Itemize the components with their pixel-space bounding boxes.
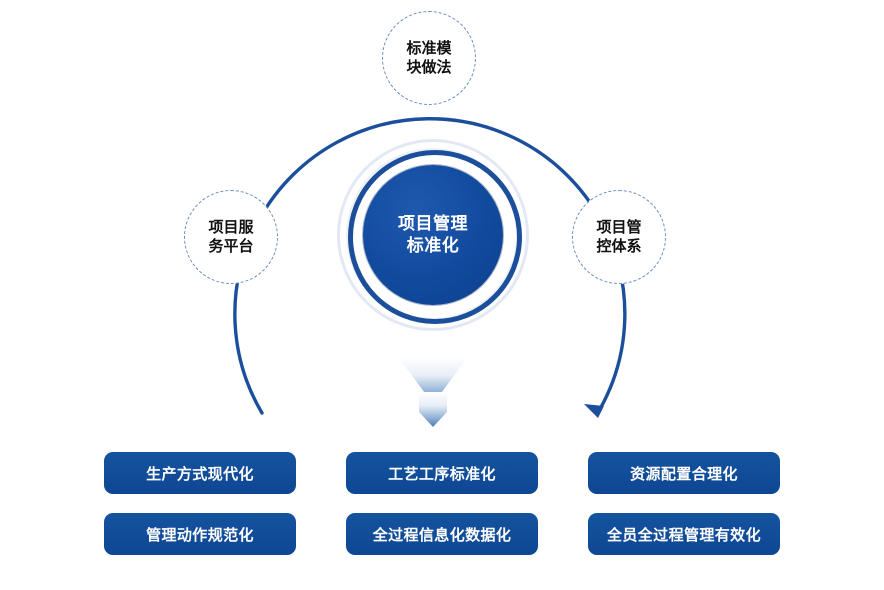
diagram-canvas: 项目管理 标准化 标准模 块做法 项目服 务平台 项目管 控体系 生产方式现代化…	[0, 0, 884, 590]
outcome-box[interactable]: 全员全过程管理有效化	[588, 513, 780, 555]
outcome-box[interactable]: 管理动作规范化	[104, 513, 296, 555]
cycle-node-right[interactable]: 项目管 控体系	[572, 190, 666, 284]
outcome-grid: 生产方式现代化 工艺工序标准化 资源配置合理化 管理动作规范化 全过程信息化数据…	[0, 452, 884, 574]
hub-disc: 项目管理 标准化	[363, 165, 503, 305]
cycle-node-left-label: 项目服 务平台	[208, 218, 253, 256]
hub-label: 项目管理 标准化	[398, 213, 468, 258]
outcome-box[interactable]: 全过程信息化数据化	[346, 513, 538, 555]
cycle-node-top[interactable]: 标准模 块做法	[382, 11, 476, 105]
outcome-row: 生产方式现代化 工艺工序标准化 资源配置合理化	[0, 452, 884, 494]
cycle-node-right-label: 项目管 控体系	[596, 218, 641, 256]
outcome-box[interactable]: 生产方式现代化	[104, 452, 296, 494]
center-hub: 项目管理 标准化	[337, 139, 529, 331]
outcome-box[interactable]: 工艺工序标准化	[346, 452, 538, 494]
outcome-box[interactable]: 资源配置合理化	[588, 452, 780, 494]
down-arrow-tail-icon	[419, 392, 447, 427]
cycle-node-left[interactable]: 项目服 务平台	[184, 190, 278, 284]
outcome-row: 管理动作规范化 全过程信息化数据化 全员全过程管理有效化	[0, 513, 884, 555]
cycle-node-top-label: 标准模 块做法	[406, 39, 451, 77]
cycle-arrowhead-icon	[584, 404, 604, 418]
